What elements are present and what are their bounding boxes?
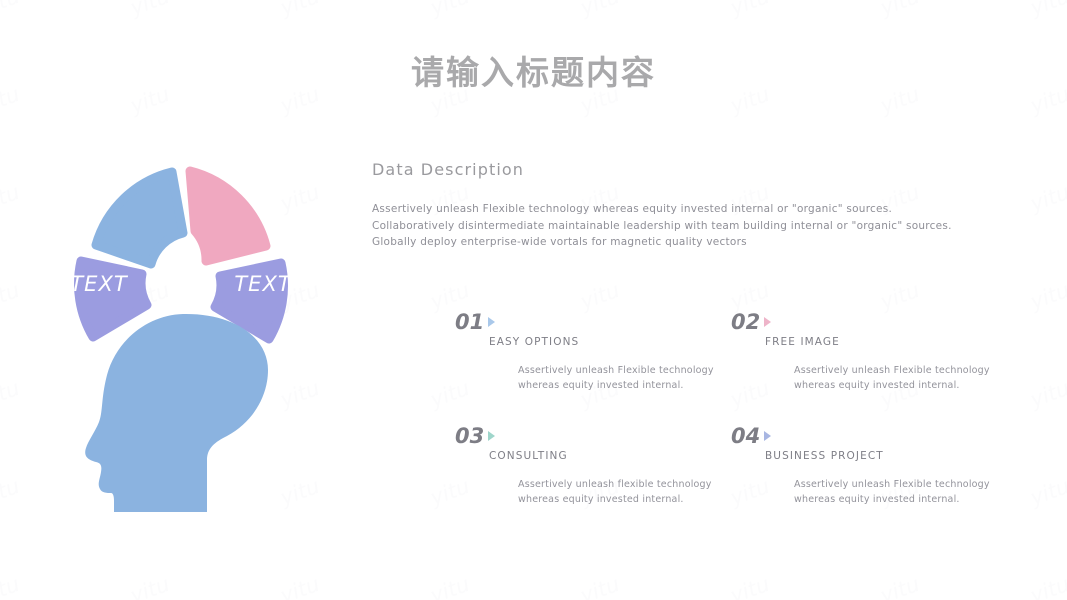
watermark-text: yitu: [1027, 0, 1067, 20]
feature-item-01[interactable]: 01 EASY OPTIONS Assertively unleash Flex…: [455, 312, 731, 426]
feature-item-04-number: 04: [731, 426, 760, 446]
feature-item-01-number: 01: [455, 312, 484, 332]
feature-item-02[interactable]: 02 FREE IMAGE Assertively unleash Flexib…: [731, 312, 1007, 426]
watermark-text: yitu: [1027, 572, 1067, 600]
feature-item-01-header: 01: [455, 312, 731, 332]
watermark-text: yitu: [0, 474, 23, 510]
watermark-text: yitu: [127, 0, 173, 20]
feature-item-02-header: 02: [731, 312, 1007, 332]
watermark-text: yitu: [0, 278, 23, 314]
feature-item-02-body: Assertively unleash Flexible technology …: [794, 363, 999, 393]
triangle-marker-icon: [488, 317, 495, 327]
feature-items-grid: 01 EASY OPTIONS Assertively unleash Flex…: [455, 312, 1015, 540]
feature-item-01-body: Assertively unleash Flexible technology …: [518, 363, 723, 393]
watermark-text: yitu: [877, 278, 923, 314]
feature-item-04[interactable]: 04 BUSINESS PROJECT Assertively unleash …: [731, 426, 1007, 540]
watermark-text: yitu: [727, 572, 773, 600]
feature-item-02-number: 02: [731, 312, 760, 332]
feature-item-03[interactable]: 03 CONSULTING Assertively unleash flexib…: [455, 426, 731, 540]
arc-label-left: TEXT: [70, 272, 128, 296]
watermark-text: yitu: [427, 0, 473, 20]
watermark-text: yitu: [0, 572, 23, 600]
watermark-text: yitu: [1027, 474, 1067, 510]
watermark-text: yitu: [1027, 376, 1067, 412]
feature-item-03-body: Assertively unleash flexible technology …: [518, 477, 723, 507]
feature-item-03-header: 03: [455, 426, 731, 446]
watermark-text: yitu: [0, 0, 23, 20]
watermark-text: yitu: [727, 0, 773, 20]
watermark-text: yitu: [427, 572, 473, 600]
arc-segment-top-right[interactable]: [190, 171, 266, 261]
watermark-text: yitu: [127, 572, 173, 600]
feature-item-03-number: 03: [455, 426, 484, 446]
watermark-text: yitu: [277, 572, 323, 600]
watermark-text: yitu: [1027, 278, 1067, 314]
watermark-text: yitu: [577, 572, 623, 600]
feature-item-02-title: FREE IMAGE: [765, 336, 1007, 348]
arc-segment-top-left[interactable]: [96, 172, 183, 264]
triangle-marker-icon: [764, 431, 771, 441]
feature-item-01-title: EASY OPTIONS: [489, 336, 731, 348]
brain-head-graphic: TEXT TEXT: [55, 160, 325, 520]
watermark-text: yitu: [1027, 180, 1067, 216]
watermark-text: yitu: [0, 376, 23, 412]
description-body: Assertively unleash Flexible technology …: [372, 201, 978, 251]
description-block: Data Description Assertively unleash Fle…: [372, 160, 1012, 251]
watermark-text: yitu: [877, 0, 923, 20]
feature-item-04-header: 04: [731, 426, 1007, 446]
slide-canvas: yituyituyituyituyituyituyituyituyituyitu…: [0, 0, 1067, 600]
description-heading: Data Description: [372, 160, 1012, 179]
arc-label-right: TEXT: [234, 272, 292, 296]
feature-item-03-title: CONSULTING: [489, 450, 731, 462]
page-title: 请输入标题内容: [0, 46, 1067, 94]
feature-item-04-title: BUSINESS PROJECT: [765, 450, 1007, 462]
watermark-text: yitu: [877, 572, 923, 600]
feature-item-04-body: Assertively unleash Flexible technology …: [794, 477, 999, 507]
watermark-text: yitu: [727, 278, 773, 314]
watermark-text: yitu: [577, 0, 623, 20]
watermark-text: yitu: [427, 278, 473, 314]
watermark-text: yitu: [277, 0, 323, 20]
watermark-text: yitu: [577, 278, 623, 314]
triangle-marker-icon: [764, 317, 771, 327]
triangle-marker-icon: [488, 431, 495, 441]
watermark-text: yitu: [0, 180, 23, 216]
head-silhouette: [85, 314, 268, 512]
